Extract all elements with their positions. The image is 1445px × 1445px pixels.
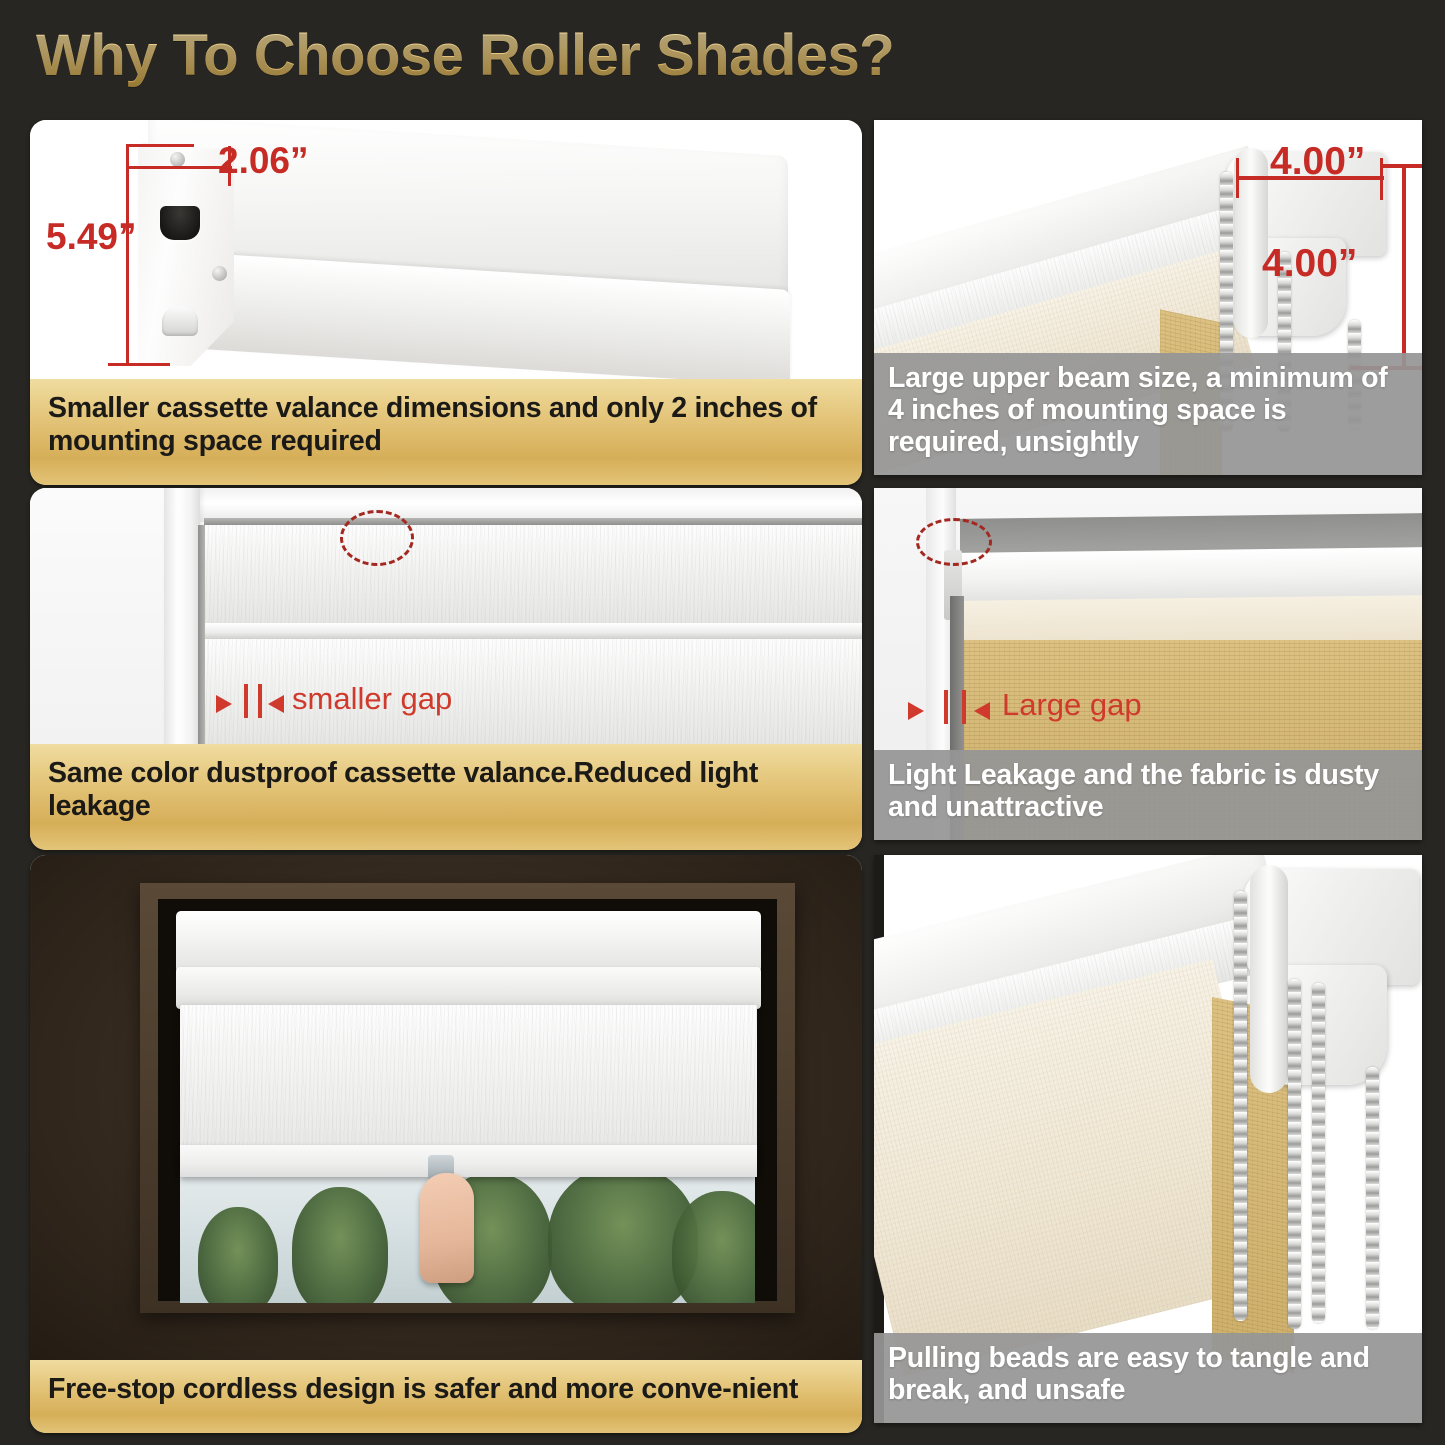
- bracket-rim: [1250, 865, 1288, 1093]
- shade-fabric: [180, 1005, 757, 1167]
- bead-chain: [1366, 1067, 1379, 1329]
- valance-headrail: [204, 518, 862, 525]
- bead-chain: [1288, 979, 1301, 1329]
- gap-arrow-left-icon: [268, 695, 284, 713]
- hand: [420, 1173, 474, 1283]
- page-title: Why To Choose Roller Shades?: [36, 22, 894, 89]
- photo-cordless-window-scene: [30, 855, 862, 1360]
- dim-line-width: [126, 166, 232, 169]
- gap-label: Large gap: [1002, 687, 1142, 723]
- bead-chain: [1234, 891, 1247, 1321]
- caption-pulling-beads: Pulling beads are easy to tangle and bre…: [874, 1333, 1422, 1423]
- valance-slot: [160, 206, 200, 240]
- cassette-valance-head: [176, 911, 761, 973]
- infographic-page: Why To Choose Roller Shades? 2.06”: [0, 0, 1445, 1445]
- dimension-height-label: 5.49”: [46, 216, 137, 258]
- screw-icon: [170, 152, 185, 167]
- window-casing-left: [164, 488, 200, 744]
- panel-large-upper-beam: 4.00” 4.00” Large upper beam size, a min…: [874, 120, 1422, 475]
- tree: [292, 1187, 388, 1303]
- gap-label: smaller gap: [292, 681, 452, 717]
- dim-cap-top: [1380, 164, 1422, 168]
- comparison-grid: 2.06” 5.49” Smaller cassette valance dim…: [0, 110, 1445, 1445]
- gap-marker: [258, 684, 262, 718]
- gap-arrow-right-icon: [908, 702, 924, 720]
- gap-marker: [962, 690, 966, 724]
- highlight-ellipse-icon: [916, 518, 992, 566]
- gap-edge: [198, 525, 205, 744]
- valance-knob: [162, 306, 198, 336]
- panel-light-leakage: Large gap Light Leakage and the fabric i…: [874, 488, 1422, 840]
- tree: [198, 1207, 278, 1303]
- dim-cap-top: [126, 144, 194, 147]
- dim-cap-bottom: [108, 363, 170, 366]
- gap-arrow-left-icon: [974, 702, 990, 720]
- bottom-rail: [180, 1145, 757, 1177]
- gap-marker: [244, 684, 248, 718]
- panel-pulling-beads: Pulling beads are easy to tangle and bre…: [874, 855, 1422, 1423]
- highlight-ellipse-icon: [340, 510, 414, 566]
- gap-arrow-right-icon: [216, 695, 232, 713]
- panel-free-stop-cordless: Free-stop cordless design is safer and m…: [30, 855, 862, 1433]
- gap-marker: [944, 690, 948, 724]
- caption-large-upper-beam: Large upper beam size, a minimum of 4 in…: [874, 353, 1422, 475]
- dimension-height-label: 4.00”: [1262, 242, 1357, 286]
- dimension-width-label: 4.00”: [1270, 140, 1365, 184]
- cassette-valance-lower: [176, 967, 761, 1009]
- panel-dustproof-cassette-valance: smaller gap Same color dustproof cassett…: [30, 488, 862, 850]
- valance-mid-rail: [204, 623, 862, 639]
- caption-light-leakage: Light Leakage and the fabric is dusty an…: [874, 750, 1422, 840]
- panel-cassette-valance-dimensions: 2.06” 5.49” Smaller cassette valance dim…: [30, 120, 862, 485]
- shade-fabric-upper: [204, 525, 862, 623]
- screw-icon: [212, 266, 227, 281]
- window-casing-top: [164, 488, 862, 522]
- photo-dustproof-cassette: smaller gap: [30, 488, 862, 744]
- caption-cassette-valance-dimensions: Smaller cassette valance dimensions and …: [30, 379, 862, 485]
- dim-line-height: [1402, 164, 1406, 368]
- caption-free-stop-cordless: Free-stop cordless design is safer and m…: [30, 1360, 862, 1433]
- photo-cassette-valance: 2.06” 5.49”: [30, 120, 862, 379]
- dimension-width-label: 2.06”: [218, 140, 309, 182]
- caption-dustproof-cassette-valance: Same color dustproof cassette valance.Re…: [30, 744, 862, 850]
- bead-chain: [1312, 983, 1325, 1323]
